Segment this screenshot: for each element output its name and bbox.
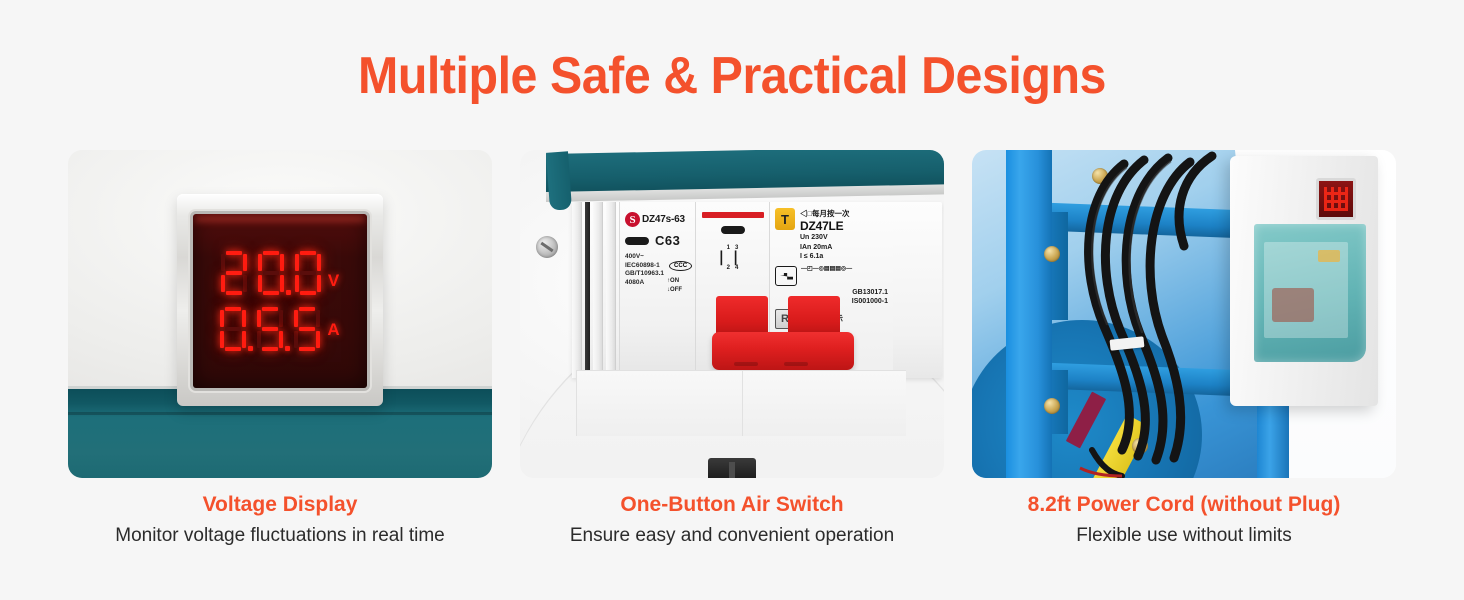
bracket-screw-icon [1044, 398, 1060, 414]
seven-segment-digit [295, 251, 321, 295]
spec-line: 400V~ [625, 253, 664, 262]
card-title: One-Button Air Switch [620, 492, 843, 518]
breaker-rating-row: C63 [625, 233, 690, 248]
din-rail-fin [606, 202, 616, 378]
toggle-direction-labels: ↑ON ↓OFF [667, 277, 692, 295]
card-title: Voltage Display [203, 492, 358, 518]
voltage-unit-label: V [328, 272, 339, 289]
ccc-certification-icon: CCC [669, 261, 692, 271]
meter-bezel: V [177, 194, 383, 406]
feature-card-air-switch: S DZ47s-63 C63 400V~ IEC60898-1 GB/T1096… [520, 150, 944, 560]
card-subtitle: Monitor voltage fluctuations in real tim… [115, 523, 445, 548]
enclosure-lower-slab [576, 370, 906, 436]
enclosure-latch-clip [708, 458, 756, 478]
terminal-label: 4 [735, 265, 738, 271]
test-button[interactable]: T [775, 208, 795, 230]
feature-card-voltage-display: V [68, 150, 492, 560]
current-readout: A [220, 307, 339, 351]
test-instruction-label: ◁□每月按一次 [800, 208, 850, 219]
seven-segment-digit [221, 251, 247, 295]
seven-segment-digit [257, 307, 283, 351]
on-label: ON [670, 278, 679, 284]
control-box-window [1254, 224, 1366, 362]
frame-screw-icon [1132, 438, 1148, 454]
photo-voltage-display: V [68, 150, 492, 478]
meter-readouts: V [193, 251, 367, 351]
rcd-spec-block: Un 230V IAn 20mA I ≤ 6.1a [800, 233, 850, 262]
breaker-rating-label: C63 [655, 233, 680, 248]
control-box [1230, 156, 1378, 406]
breaker-window-icon [625, 237, 649, 245]
one-button-bar[interactable] [712, 332, 854, 370]
frame-screw-icon [1092, 168, 1108, 184]
circuit-diagram-icon: —◰—◎▤▤▤◎— [801, 266, 852, 273]
decimal-point [248, 307, 255, 351]
seven-segment-digit [294, 307, 320, 351]
off-label: OFF [670, 287, 682, 293]
teal-lid-hinge-arm [546, 151, 572, 210]
meter-screen: V [193, 214, 367, 388]
feature-cards-row: V [0, 150, 1464, 560]
voltage-readout: V [221, 251, 339, 295]
decimal-point [286, 251, 293, 295]
brand-logo-icon: S [625, 212, 640, 227]
decimal-point-off [249, 251, 256, 295]
seven-segment-digit [220, 307, 246, 351]
decimal-point [285, 307, 292, 351]
photo-air-switch: S DZ47s-63 C63 400V~ IEC60898-1 GB/T1096… [520, 150, 944, 478]
card-subtitle: Flexible use without limits [1076, 523, 1291, 548]
card-title: 8.2ft Power Cord (without Plug) [1028, 492, 1341, 518]
spec-line: Un 230V [800, 233, 850, 243]
spec-line: IEC60898-1 [625, 262, 664, 271]
page-title: Multiple Safe & Practical Designs [51, 44, 1413, 108]
wiring-schematic-icon: 1 3 ⎮⎮ 2 4 [701, 244, 764, 272]
terminal-label: 2 [727, 265, 730, 271]
frame-vertical-post [1006, 150, 1052, 478]
spec-line: 4080A [625, 279, 664, 288]
photo-power-cord [972, 150, 1396, 478]
spec-line: GB/T10963.1 [625, 270, 664, 279]
spec-line: IAn 20mA [800, 243, 850, 253]
breaker-indicator-bar [702, 212, 764, 218]
seven-segment-digit [258, 251, 284, 295]
feature-card-power-cord: 8.2ft Power Cord (without Plug) Flexible… [972, 150, 1396, 560]
relay-schematic-icon [775, 266, 797, 286]
breaker-window-icon [721, 226, 745, 234]
breaker-spec-block: 400V~ IEC60898-1 GB/T10963.1 4080A [625, 253, 664, 287]
breaker-module-left: S DZ47s-63 C63 400V~ IEC60898-1 GB/T1096… [619, 202, 695, 378]
panel-screw [536, 236, 558, 258]
rcd-model-label: DZ47LE [800, 219, 850, 233]
din-rail-fin [585, 202, 590, 378]
bracket-screw-icon [1044, 246, 1060, 262]
card-subtitle: Ensure easy and convenient operation [570, 523, 894, 548]
breaker-model-label: DZ47s-63 [642, 214, 685, 225]
spec-line: I ≤ 6.1a [800, 252, 850, 262]
current-unit-label: A [327, 321, 339, 338]
led-readout-module [1316, 178, 1356, 220]
din-rail-fin [593, 202, 603, 378]
breaker-brand-row: S DZ47s-63 [625, 212, 690, 227]
window-contents [1264, 242, 1348, 338]
din-rail-fin [572, 202, 582, 378]
